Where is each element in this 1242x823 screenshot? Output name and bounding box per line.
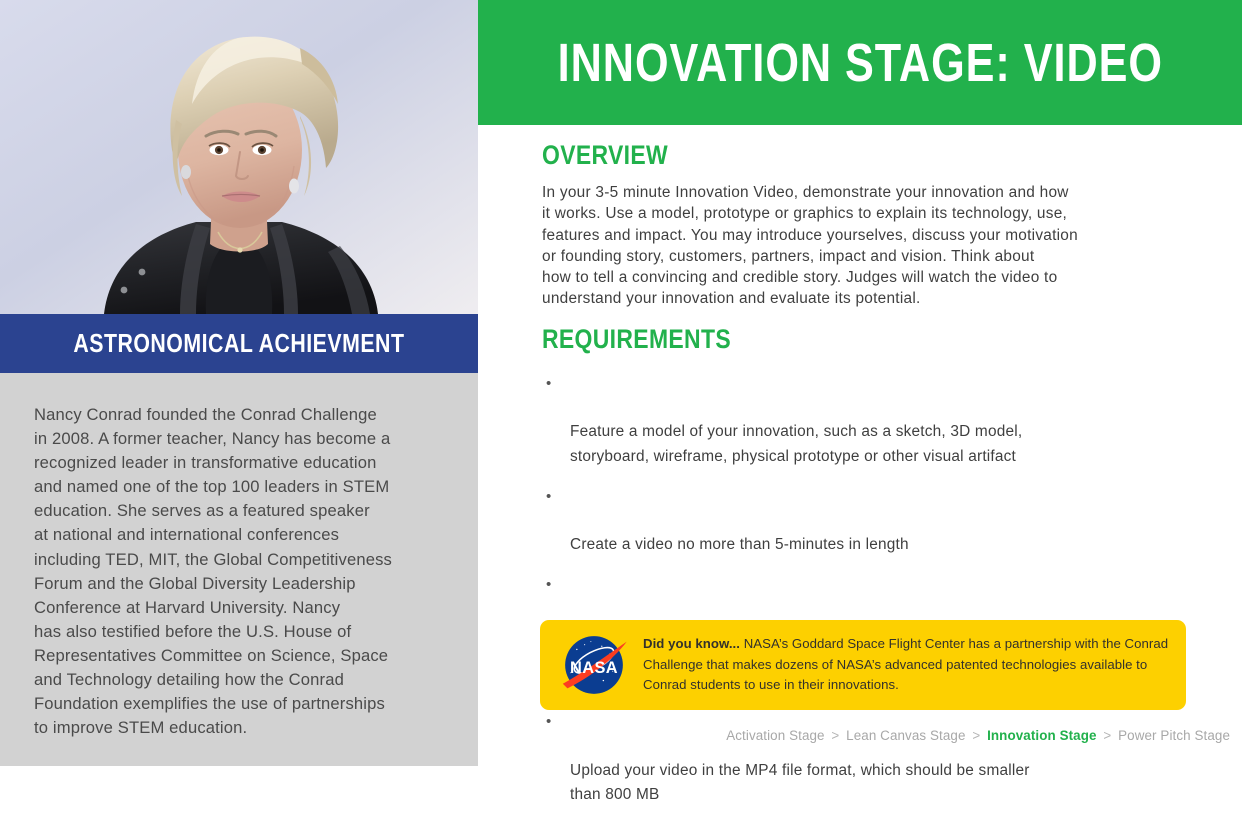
overview-section: OVERVIEW In your 3-5 minute Innovation V… [542,140,1212,310]
stage-info-page: ASTRONOMICAL ACHIEVMENT Nancy Conrad fou… [0,0,1242,766]
breadcrumb-separator-icon: > [831,728,839,743]
list-item: • Upload your video in the MP4 file form… [542,710,1232,807]
requirements-heading: REQUIREMENTS [542,324,1129,355]
bio-text: Nancy Conrad founded the Conrad Challeng… [34,403,454,740]
list-item-text: Create a video no more than 5-minutes in… [570,536,909,553]
list-item-text: Feature a model of your innovation, such… [570,423,1022,464]
svg-text:NASA: NASA [570,659,618,677]
bullet-icon: • [546,485,551,509]
breadcrumb-separator-icon: > [972,728,980,743]
overview-heading: OVERVIEW [542,140,1112,171]
breadcrumb-item-innovation-stage[interactable]: Innovation Stage [987,728,1096,743]
page-title: INNOVATION STAGE: VIDEO [557,32,1162,94]
breadcrumb-item-lean-canvas-stage[interactable]: Lean Canvas Stage [846,728,965,743]
callout-lead-in: Did you know... [643,636,740,651]
list-item-text: Upload your video in the MP4 file format… [570,762,1030,803]
profile-column: ASTRONOMICAL ACHIEVMENT Nancy Conrad fou… [0,0,478,766]
breadcrumb-separator-icon: > [1103,728,1111,743]
page-header-band: INNOVATION STAGE: VIDEO [478,0,1242,125]
person-name: ASTRONOMICAL ACHIEVMENT [73,328,404,359]
did-you-know-callout: NASA Did you know... NASA’s Goddard Spac… [540,620,1186,710]
bullet-icon: • [546,573,551,597]
breadcrumb-item-power-pitch-stage[interactable]: Power Pitch Stage [1118,728,1230,743]
requirements-section: REQUIREMENTS • Feature a model of your i… [542,324,1232,823]
portrait-photo [0,0,478,314]
callout-text: Did you know... NASA’s Goddard Space Fli… [643,634,1170,696]
content-column: INNOVATION STAGE: VIDEO OVERVIEW In your… [478,0,1242,766]
breadcrumb: Activation Stage > Lean Canvas Stage > I… [726,728,1230,743]
breadcrumb-item-activation-stage[interactable]: Activation Stage [726,728,824,743]
bullet-icon: • [546,372,551,396]
bullet-icon: • [546,710,551,734]
nasa-meatball-icon: NASA [555,626,633,704]
bio-panel: Nancy Conrad founded the Conrad Challeng… [0,373,478,766]
list-item: • Create a video no more than 5-minutes … [542,485,1232,558]
person-name-bar: ASTRONOMICAL ACHIEVMENT [0,314,478,373]
overview-body: In your 3-5 minute Innovation Video, dem… [542,182,1212,310]
list-item: • Feature a model of your innovation, su… [542,372,1232,469]
